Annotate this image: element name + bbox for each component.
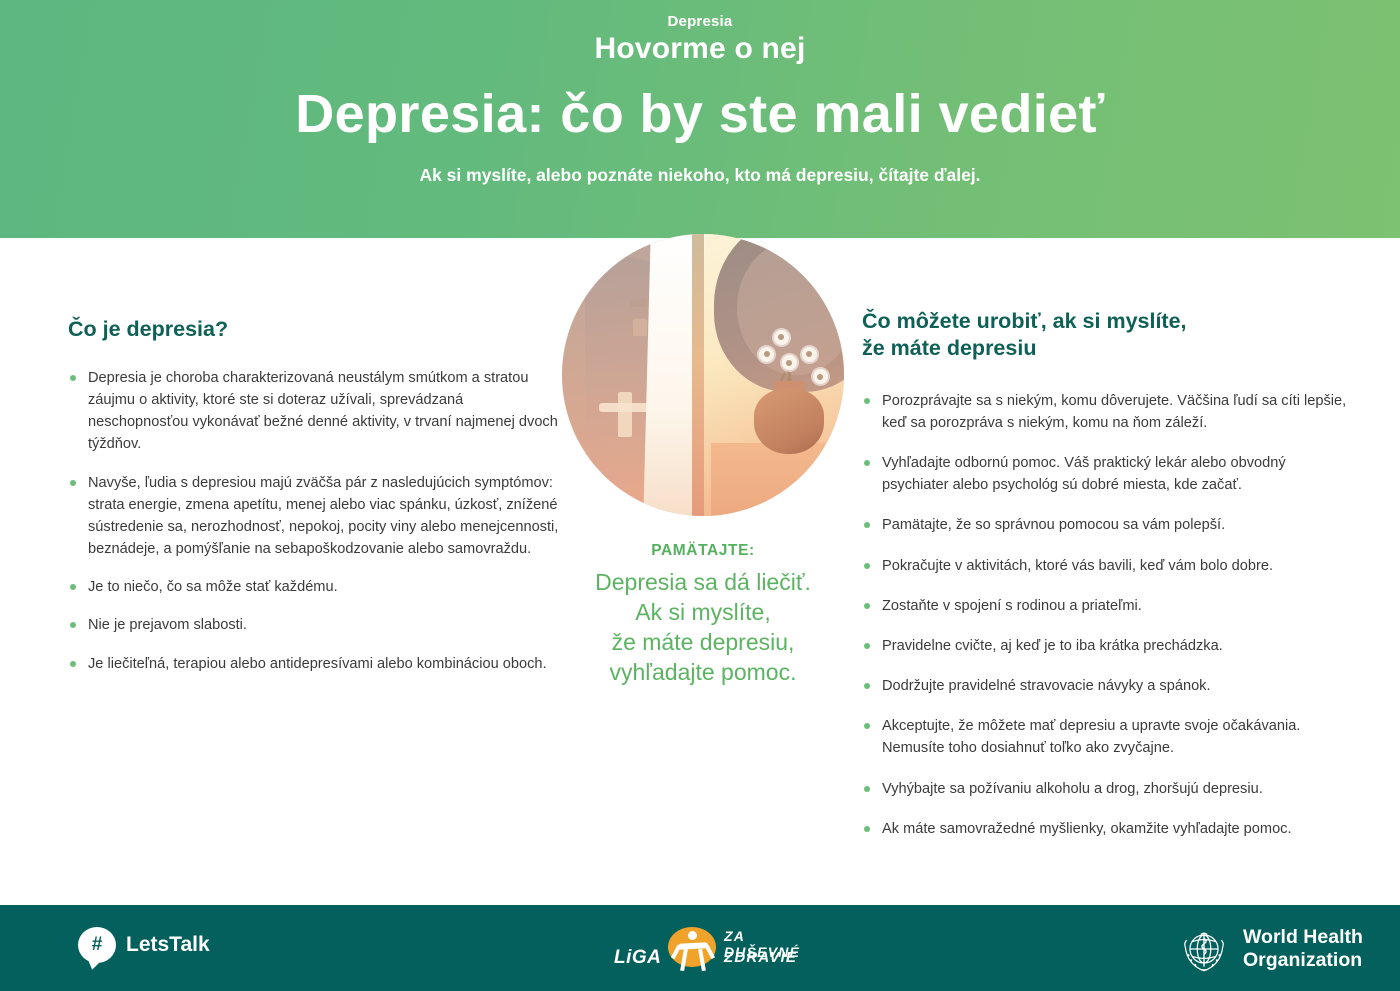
vase-shape — [754, 389, 825, 454]
who-wordmark-line1: World Health — [1243, 926, 1363, 949]
letstalk-label: LetsTalk — [126, 933, 210, 957]
campaign-brand-sub: Depresia — [0, 13, 1400, 30]
right-column-heading: Čo môžete urobiť, ak si myslíte, že máte… — [862, 308, 1356, 362]
page-title: Depresia: čo by ste mali vedieť — [0, 86, 1400, 143]
what-you-can-do-list: Porozprávajte sa s niekým, komu dôveruje… — [862, 390, 1356, 840]
flower-shape — [774, 330, 789, 345]
right-column-heading-line2: že máte depresiu — [862, 335, 1356, 362]
door-lock-upper-shape — [630, 299, 647, 307]
list-item: Pravidelne cvičte, aj keď je to iba krát… — [862, 635, 1356, 657]
list-item: Pokračujte v aktivitách, ktoré vás bavil… — [862, 555, 1356, 577]
liga-tagline-line2: ZDRAVIE — [724, 949, 797, 966]
door-and-flowers-illustration — [562, 234, 844, 516]
list-item: Je to niečo, čo sa môže stať každému. — [68, 576, 560, 598]
liga-za-dusevne-zdravie-logo: LiGA ZA DUŠEVNÉ ZDRAVIE — [612, 923, 802, 977]
right-column: Čo môžete urobiť, ak si myslíte, že máte… — [862, 308, 1356, 858]
list-item: Akceptujte, že môžete mať depresiu a upr… — [862, 715, 1356, 759]
list-item: Zostaňte v spojení s rodinou a priateľmi… — [862, 595, 1356, 617]
list-item: Vyhýbajte sa požívaniu alkoholu a drog, … — [862, 778, 1356, 800]
list-item: Porozprávajte sa s niekým, komu dôveruje… — [862, 390, 1356, 434]
list-item: Vyhľadajte odbornú pomoc. Váš praktický … — [862, 452, 1356, 496]
list-item: Navyše, ľudia s depresiou majú zväčša pá… — [68, 472, 560, 561]
remember-label: PAMÄTAJTE: — [562, 542, 844, 560]
page-subtitle: Ak si myslíte, alebo poznáte niekoho, kt… — [0, 165, 1400, 186]
who-emblem-icon — [1178, 923, 1230, 975]
remember-line: Depresia sa dá liečiť. — [552, 568, 854, 598]
who-wordmark: World Health Organization — [1243, 926, 1363, 971]
list-item: Ak máte samovražedné myšlienky, okamžite… — [862, 818, 1356, 840]
remember-line: že máte depresiu, — [552, 628, 854, 658]
remember-line: Ak si myslíte, — [552, 598, 854, 628]
flower-shape — [802, 347, 817, 362]
remember-line: vyhľadajte pomoc. — [552, 658, 854, 688]
list-item: Pamätajte, že so správnou pomocou sa vám… — [862, 514, 1356, 536]
campaign-brand-main: Hovorme o nej — [0, 32, 1400, 66]
left-column-heading: Čo je depresia? — [68, 316, 560, 343]
letstalk-hashtag-logo: # LetsTalk — [78, 927, 210, 963]
illustration-layers — [562, 234, 844, 516]
poster-footer: # LetsTalk LiGA ZA DUŠEVNÉ ZDRAVIE — [0, 905, 1400, 991]
who-logo: World Health Organization — [1178, 923, 1363, 975]
hashtag-icon: # — [92, 934, 103, 956]
liga-wordmark: LiGA — [614, 947, 661, 969]
door-plate-shape — [618, 392, 632, 437]
list-item: Depresia je choroba charakterizovaná neu… — [68, 367, 560, 456]
list-item: Je liečiteľná, terapiou alebo antidepres… — [68, 653, 560, 675]
speech-bubble-icon: # — [78, 927, 116, 963]
door-lock-shape — [633, 319, 647, 336]
shelf-shape — [711, 443, 844, 516]
remember-message: Depresia sa dá liečiť. Ak si myslíte, že… — [552, 568, 854, 688]
list-item: Dodržujte pravidelné stravovacie návyky … — [862, 675, 1356, 697]
left-column: Čo je depresia? Depresia je choroba char… — [68, 316, 560, 691]
who-wordmark-line2: Organization — [1243, 949, 1363, 972]
liga-figure-head-icon — [688, 931, 697, 940]
what-is-depression-list: Depresia je choroba charakterizovaná neu… — [68, 367, 560, 675]
poster-header: Depresia Hovorme o nej Depresia: čo by s… — [0, 0, 1400, 238]
door-frame-shape — [692, 234, 705, 516]
right-column-heading-line1: Čo môžete urobiť, ak si myslíte, — [862, 308, 1356, 335]
poster-body: Čo je depresia? Depresia je choroba char… — [0, 238, 1400, 905]
infographic-poster: Depresia Hovorme o nej Depresia: čo by s… — [0, 0, 1400, 991]
list-item: Nie je prejavom slabosti. — [68, 614, 560, 636]
